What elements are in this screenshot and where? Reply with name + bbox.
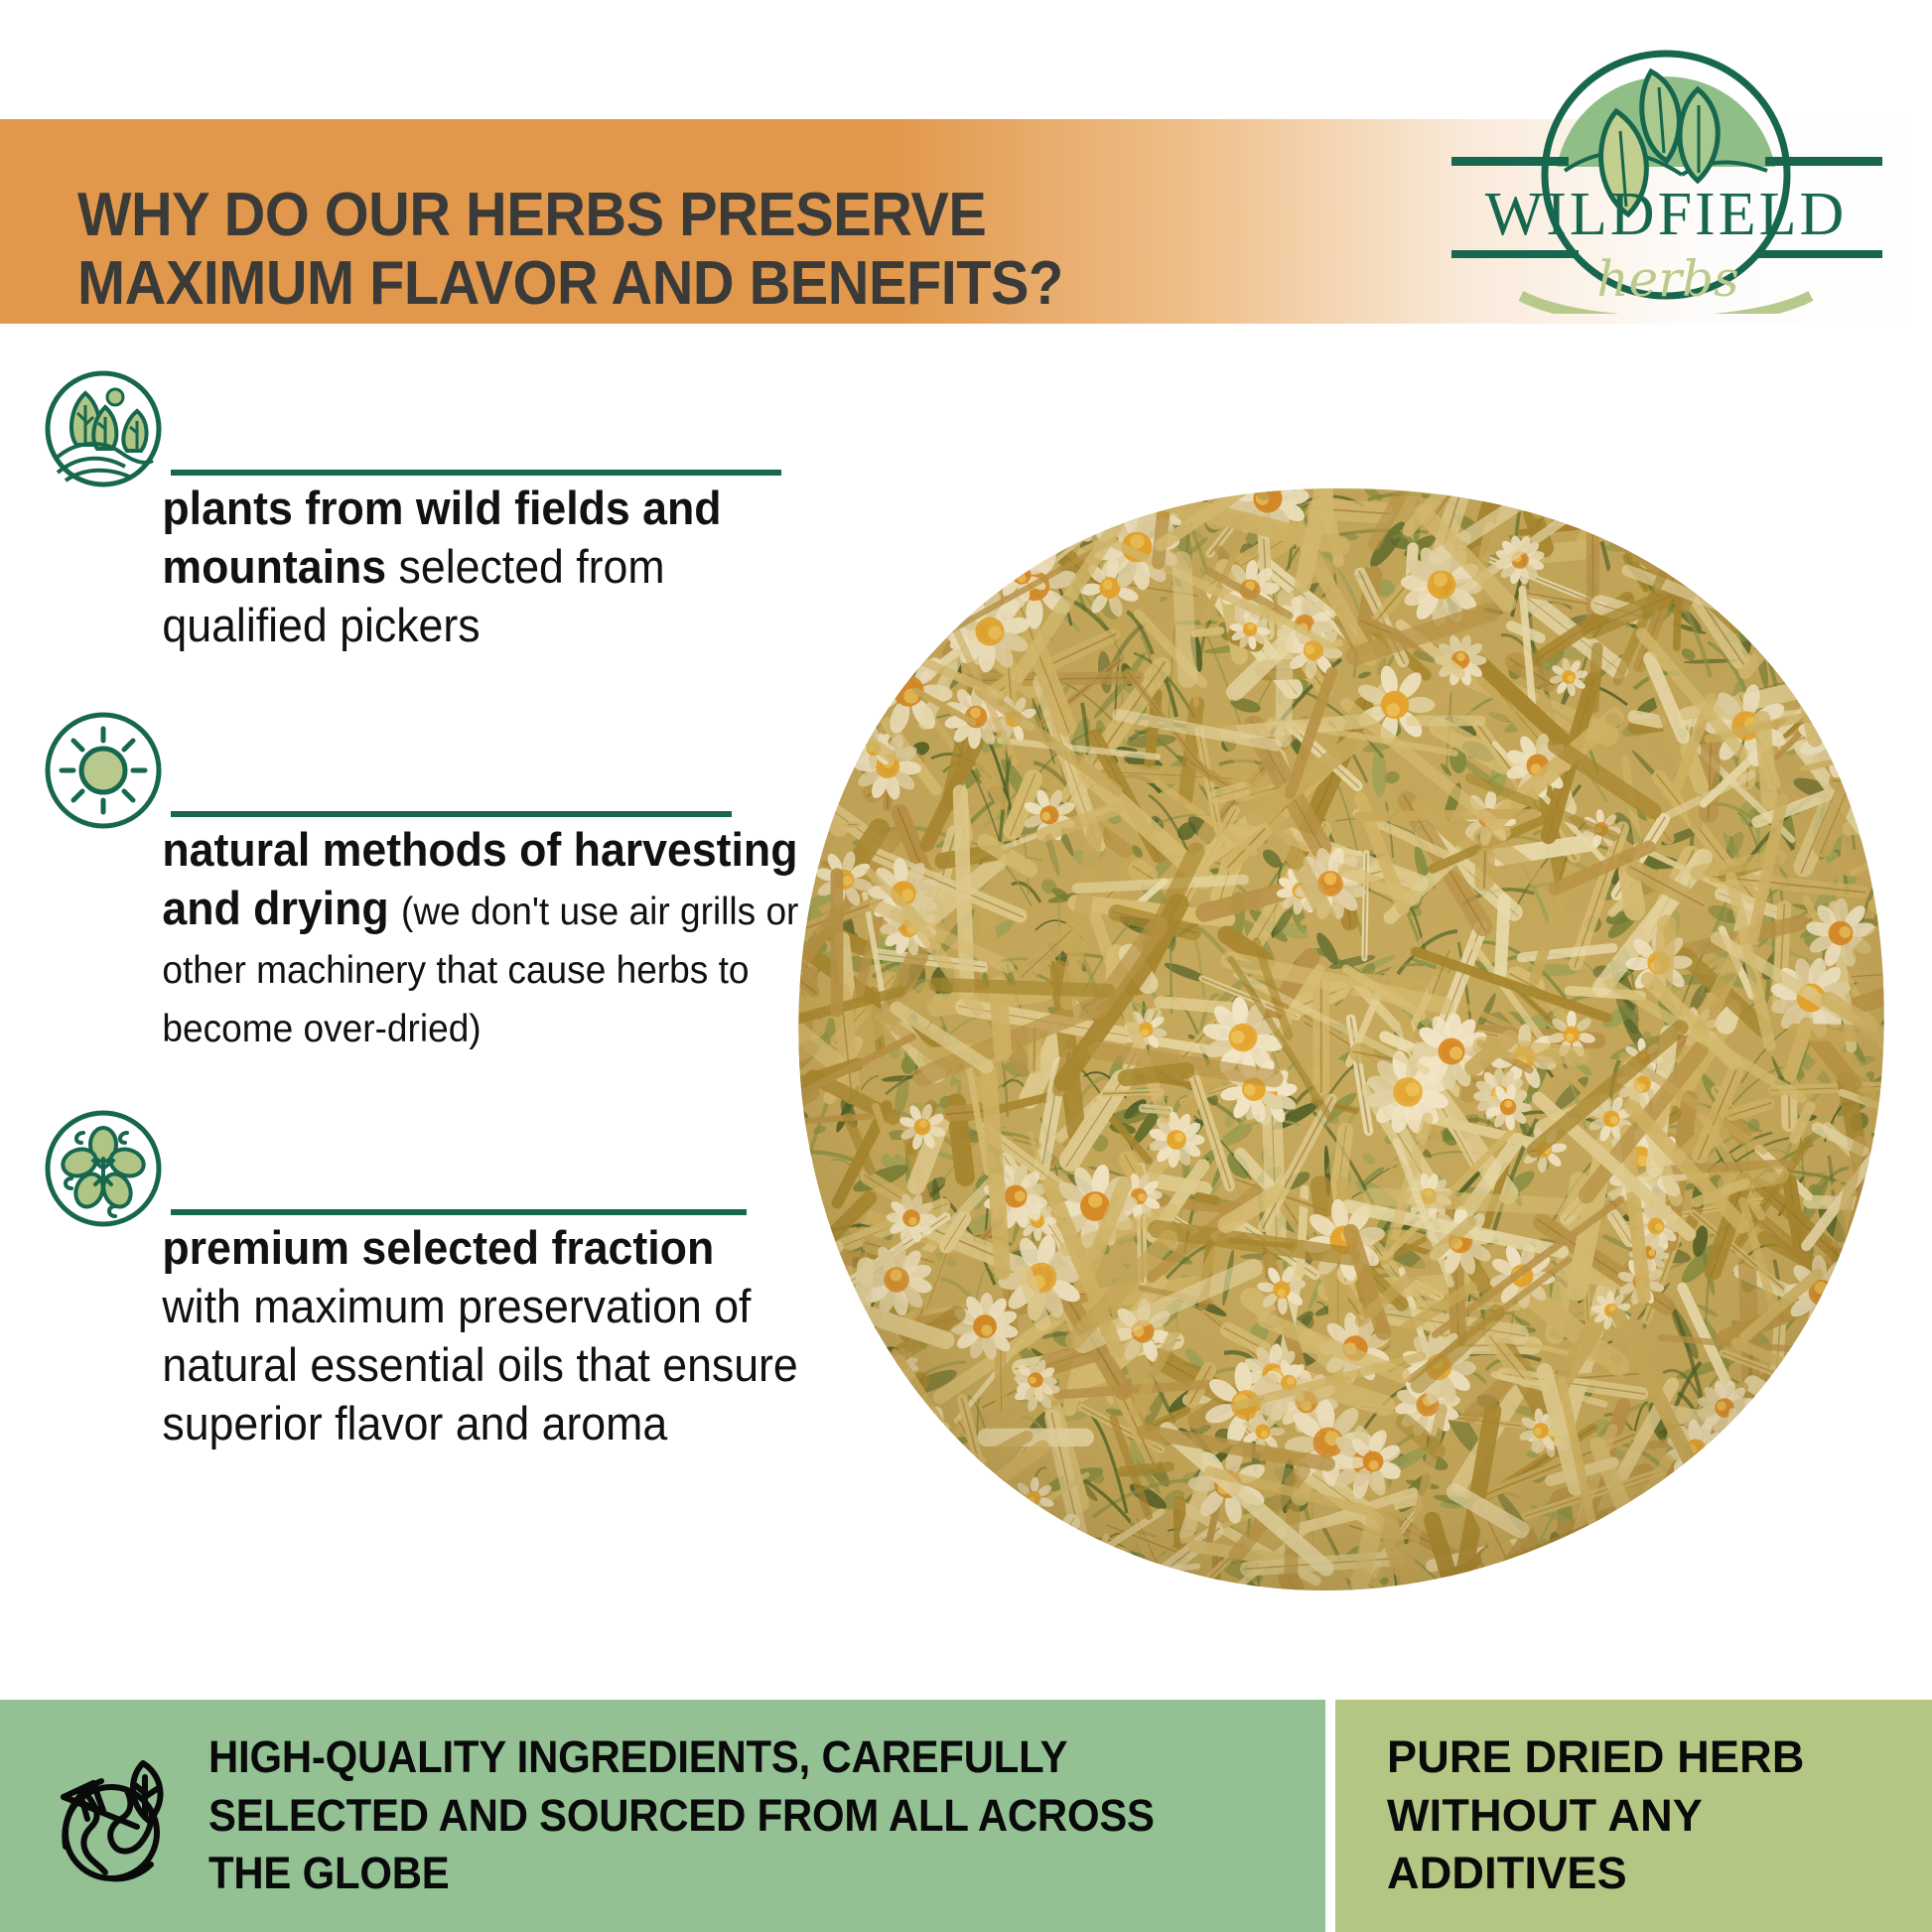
feature-text: premium selected fraction with maximum p… bbox=[0, 1218, 803, 1453]
sun-icon bbox=[42, 709, 165, 832]
feature-rule bbox=[171, 470, 781, 476]
features-list: plants from wild fields and mountains se… bbox=[0, 367, 834, 1452]
feature-header bbox=[0, 709, 834, 820]
page-title: WHY DO OUR HERBS PRESERVE MAXIMUM FLAVOR… bbox=[77, 181, 1140, 319]
dried-chamomile-herb-pile bbox=[769, 467, 1911, 1618]
logo-wordmark: WILDFIELD bbox=[1485, 181, 1847, 248]
banner-quality: HIGH-QUALITY INGREDIENTS, CAREFULLY SELE… bbox=[0, 1700, 1325, 1932]
feature-bold: premium selected fraction bbox=[162, 1221, 714, 1274]
feature-header bbox=[0, 1107, 834, 1218]
banner-pure-text: PURE DRIED HERB WITHOUT ANY ADDITIVES bbox=[1387, 1728, 1932, 1903]
feature-item: natural methods of harvesting and drying… bbox=[0, 709, 834, 1055]
logo-script: herbs bbox=[1596, 250, 1738, 308]
bottom-banners: HIGH-QUALITY INGREDIENTS, CAREFULLY SELE… bbox=[0, 1700, 1932, 1932]
banner-quality-text: HIGH-QUALITY INGREDIENTS, CAREFULLY SELE… bbox=[208, 1728, 1247, 1903]
feature-item: plants from wild fields and mountains se… bbox=[0, 367, 834, 655]
feature-text: plants from wild fields and mountains se… bbox=[0, 479, 803, 655]
brand-logo[interactable]: WILDFIELD herbs bbox=[1438, 36, 1894, 314]
flower-droplets-icon bbox=[42, 1107, 165, 1230]
feature-rule bbox=[171, 811, 732, 817]
feature-header bbox=[0, 367, 834, 479]
globe-leaf-icon bbox=[42, 1741, 181, 1890]
feature-rest: with maximum preservation of natural ess… bbox=[162, 1280, 797, 1449]
feature-text: natural methods of harvesting and drying… bbox=[0, 820, 803, 1055]
field-plants-icon bbox=[42, 367, 165, 490]
feature-rule bbox=[171, 1209, 747, 1215]
banner-pure: PURE DRIED HERB WITHOUT ANY ADDITIVES bbox=[1335, 1700, 1932, 1932]
feature-item: premium selected fraction with maximum p… bbox=[0, 1107, 834, 1453]
